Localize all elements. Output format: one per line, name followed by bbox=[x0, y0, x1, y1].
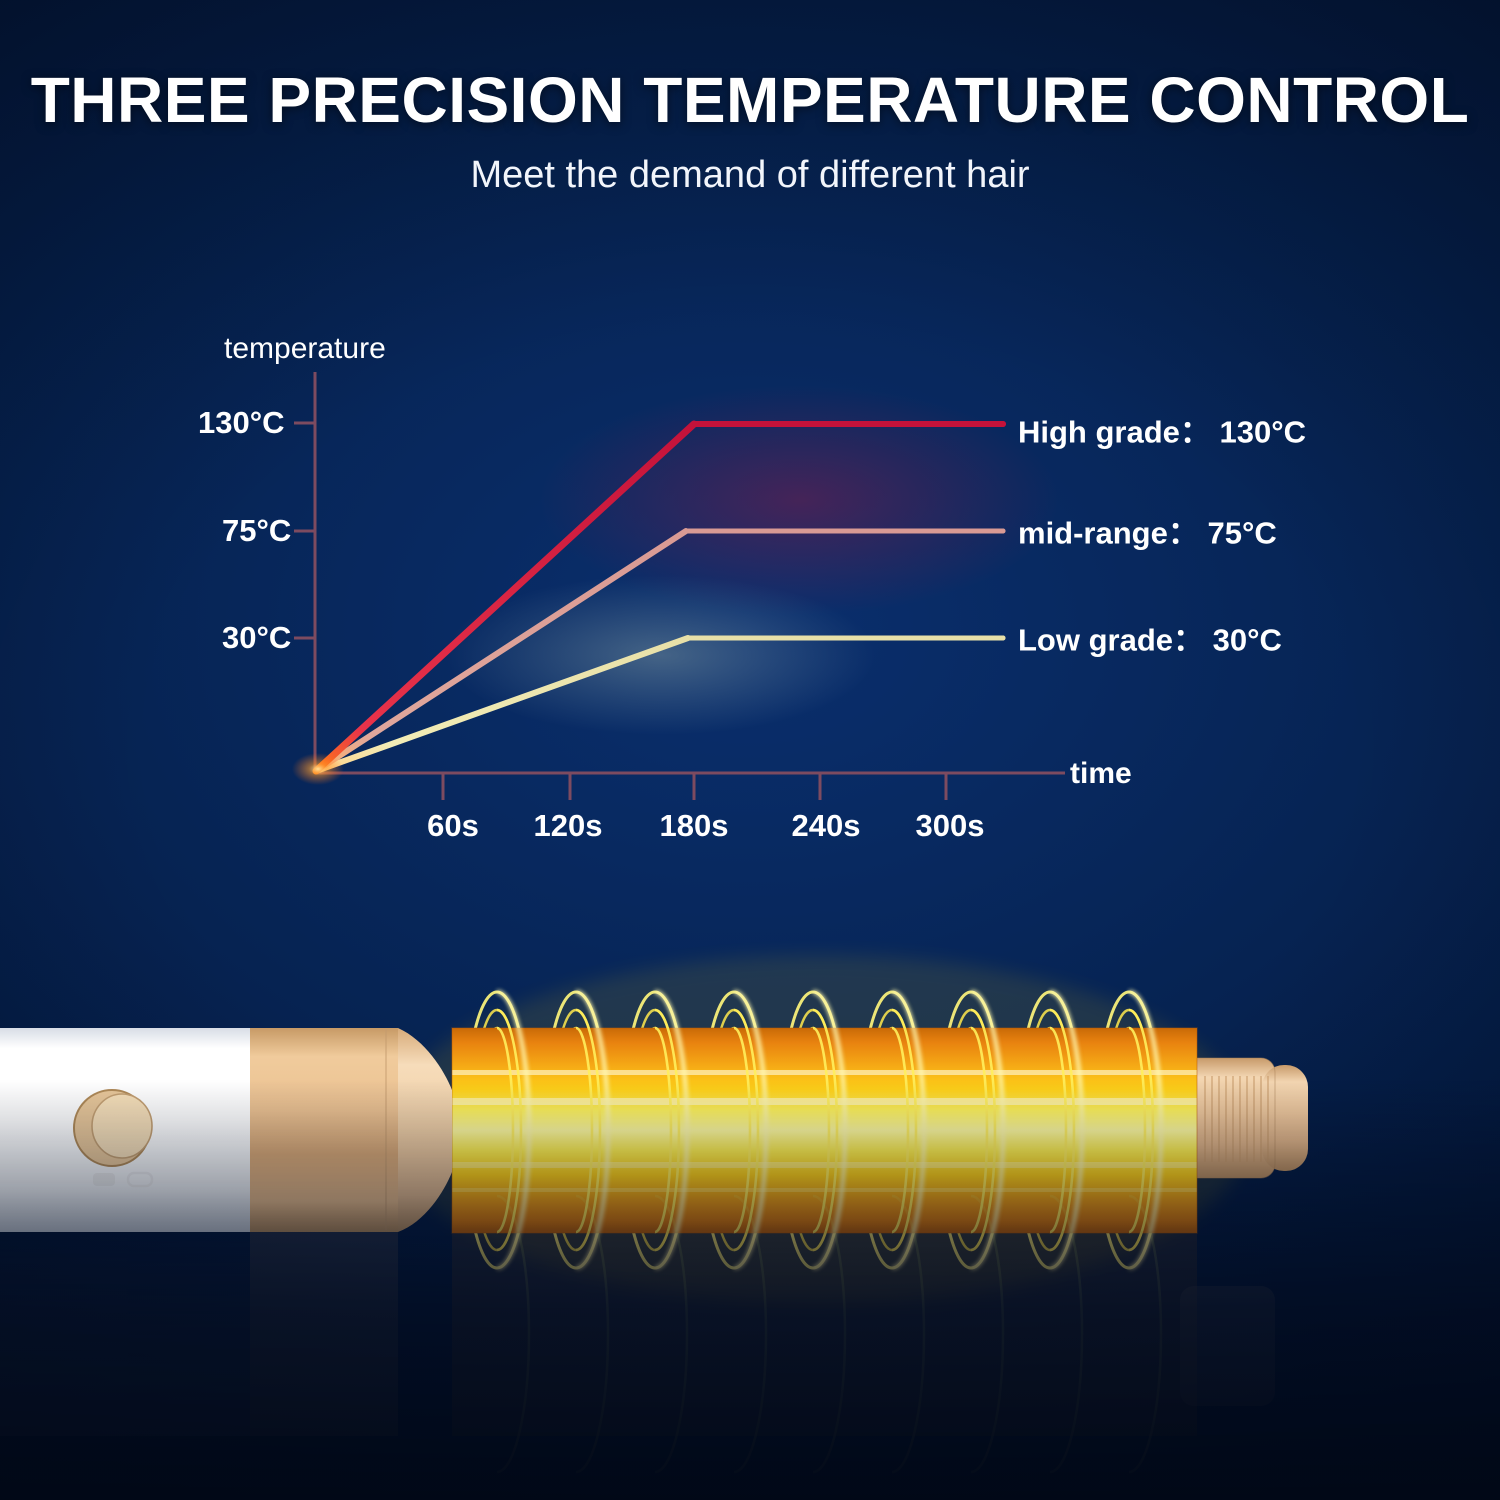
y-tick-label-130: 130°C bbox=[198, 405, 285, 441]
x-tick-label-60s: 60s bbox=[427, 808, 479, 844]
y-axis-ticks bbox=[294, 423, 315, 638]
y-tick-label-75: 75°C bbox=[222, 513, 291, 549]
x-tick-label-240s: 240s bbox=[792, 808, 861, 844]
legend-label-low-grade: Low grade： 30°C bbox=[1018, 615, 1282, 660]
legend-label-high-grade: High grade： 130°C bbox=[1018, 407, 1306, 452]
bottom-fade-overlay bbox=[0, 1080, 1500, 1500]
origin-flare bbox=[292, 753, 344, 785]
x-axis-ticks bbox=[443, 773, 946, 800]
y-axis-title: temperature bbox=[224, 332, 386, 366]
infographic-canvas: THREE PRECISION TEMPERATURE CONTROL Meet… bbox=[0, 0, 1500, 1500]
x-tick-label-300s: 300s bbox=[916, 808, 985, 844]
x-tick-label-120s: 120s bbox=[534, 808, 603, 844]
y-tick-label-30: 30°C bbox=[222, 620, 291, 656]
legend-label-mid-range: mid-range： 75°C bbox=[1018, 508, 1277, 553]
x-tick-label-180s: 180s bbox=[660, 808, 729, 844]
chart-glow-low bbox=[445, 575, 875, 735]
temperature-chart: temperature time 130°C 75°C 30°C 60s 120… bbox=[0, 0, 1500, 900]
x-axis-title: time bbox=[1070, 757, 1132, 791]
